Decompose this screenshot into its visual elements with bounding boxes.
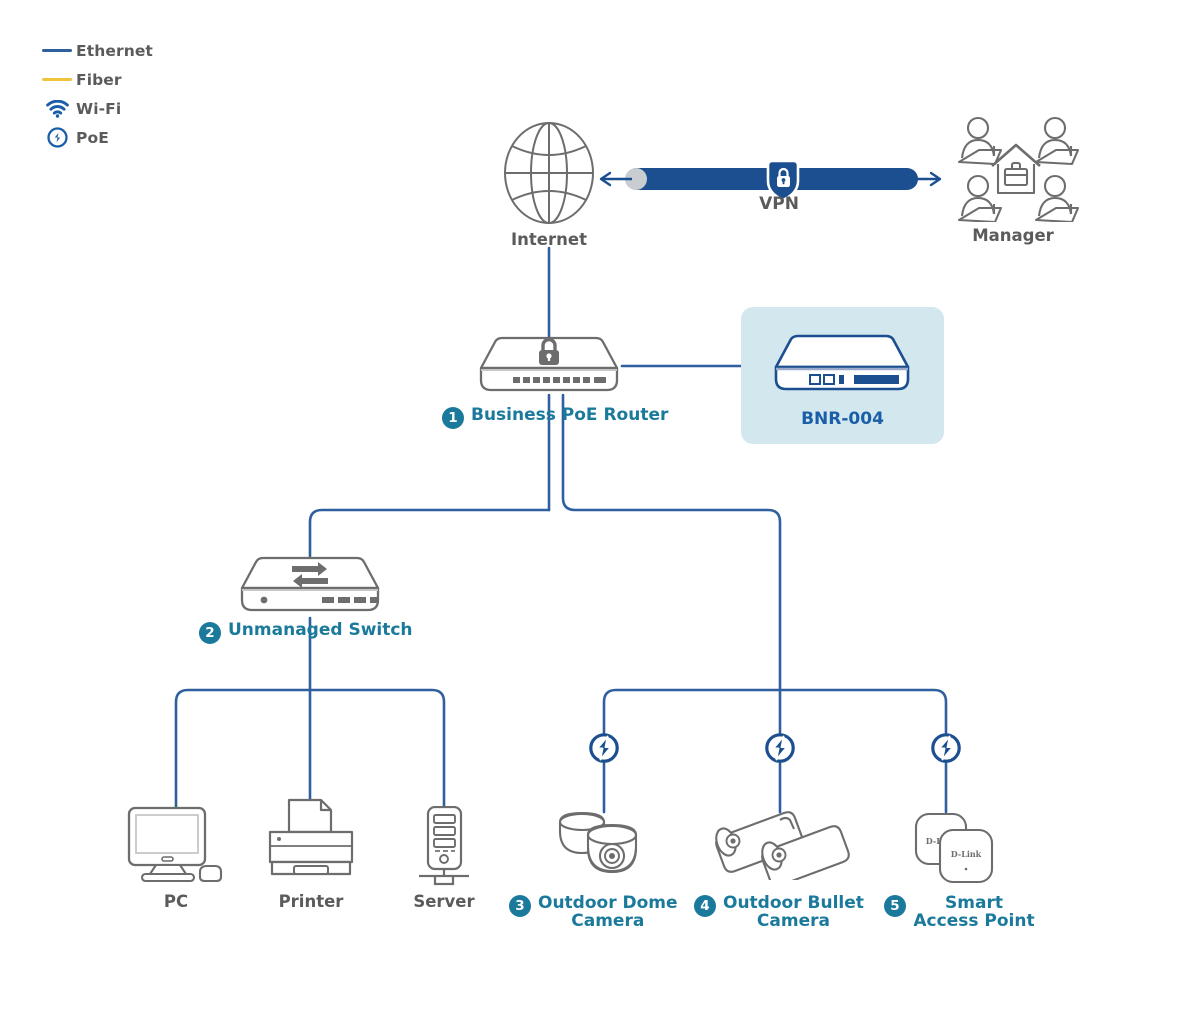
remote-workers-icon [945, 114, 1081, 222]
router-lock-icon[interactable] [473, 336, 625, 398]
legend: Ethernet Fiber Wi-Fi [38, 36, 153, 152]
link-switch-pc [176, 690, 310, 812]
access-point-icon[interactable]: D-Link D-Link [912, 810, 1004, 890]
node-label-internet: Internet [511, 230, 587, 249]
dome-camera-label: 3 Outdoor Dome Camera [509, 894, 678, 930]
access-point-brand-text: D-Link [951, 849, 982, 859]
product-model-label: BNR-004 [741, 409, 944, 429]
node-pc[interactable]: PC [116, 806, 236, 911]
access-point-label-line1: Smart [945, 893, 1003, 913]
poe-badge-dome-camera [588, 732, 620, 768]
bullet-camera-label-text: Outdoor Bullet Camera [723, 894, 864, 930]
node-label-pc: PC [164, 892, 188, 911]
node-label-server: Server [413, 892, 474, 911]
dome-camera-number-badge: 3 [509, 895, 531, 917]
link-switch-server [310, 690, 444, 812]
switch-label: 2 Unmanaged Switch [199, 621, 413, 644]
switch-icon[interactable] [234, 556, 386, 618]
legend-item-poe: PoE [38, 123, 153, 152]
ethernet-line-icon [38, 49, 76, 52]
globe-icon [501, 120, 597, 226]
node-manager[interactable]: Manager [940, 114, 1086, 245]
bnr-004-router-icon [766, 333, 918, 399]
dome-camera-label-text: Outdoor Dome Camera [538, 894, 678, 930]
poe-icon [38, 127, 76, 148]
legend-item-fiber: Fiber [38, 65, 153, 94]
bullet-camera-label-line2: Camera [757, 911, 830, 931]
fiber-line-icon [38, 78, 76, 81]
router-label-text: Business PoE Router [471, 406, 668, 424]
node-internet[interactable]: Internet [493, 120, 605, 249]
node-label-printer: Printer [279, 892, 344, 911]
link-router-switch [310, 510, 549, 556]
link-router-to-poe-trunk [563, 395, 780, 745]
legend-label-fiber: Fiber [76, 71, 122, 89]
router-label: 1 Business PoE Router [442, 406, 668, 429]
link-trunk-dome-camera [604, 690, 780, 735]
node-server[interactable]: Server [398, 806, 490, 911]
access-point-label-line2: Access Point [913, 911, 1034, 931]
legend-item-wifi: Wi-Fi [38, 94, 153, 123]
bullet-camera-label: 4 Outdoor Bullet Camera [694, 894, 864, 930]
poe-badge-access-point [930, 732, 962, 768]
switch-label-text: Unmanaged Switch [228, 621, 413, 639]
legend-label-ethernet: Ethernet [76, 42, 153, 60]
legend-label-wifi: Wi-Fi [76, 100, 121, 118]
switch-number-badge: 2 [199, 622, 221, 644]
dome-camera-label-line2: Camera [571, 911, 644, 931]
router-number-badge: 1 [442, 407, 464, 429]
desktop-pc-icon [126, 806, 226, 888]
access-point-number-badge: 5 [884, 895, 906, 917]
legend-item-ethernet: Ethernet [38, 36, 153, 65]
access-point-label-text: Smart Access Point [913, 894, 1035, 930]
node-label-manager: Manager [972, 226, 1054, 245]
access-point-label: 5 Smart Access Point [884, 894, 1035, 930]
poe-badge-bullet-camera [764, 732, 796, 768]
server-tower-icon [407, 806, 481, 888]
printer-icon [263, 798, 359, 888]
bullet-camera-icon[interactable] [706, 808, 858, 884]
wifi-icon [38, 100, 76, 118]
vpn-label: VPN [719, 194, 839, 214]
legend-label-poe: PoE [76, 129, 109, 147]
link-trunk-access-point [780, 690, 946, 735]
bullet-camera-number-badge: 4 [694, 895, 716, 917]
dome-camera-label-line1: Outdoor Dome [538, 893, 678, 913]
dome-camera-icon[interactable] [548, 808, 660, 890]
bullet-camera-label-line1: Outdoor Bullet [723, 893, 864, 913]
node-printer[interactable]: Printer [255, 798, 367, 911]
network-diagram: Ethernet Fiber Wi-Fi [0, 0, 1200, 1034]
